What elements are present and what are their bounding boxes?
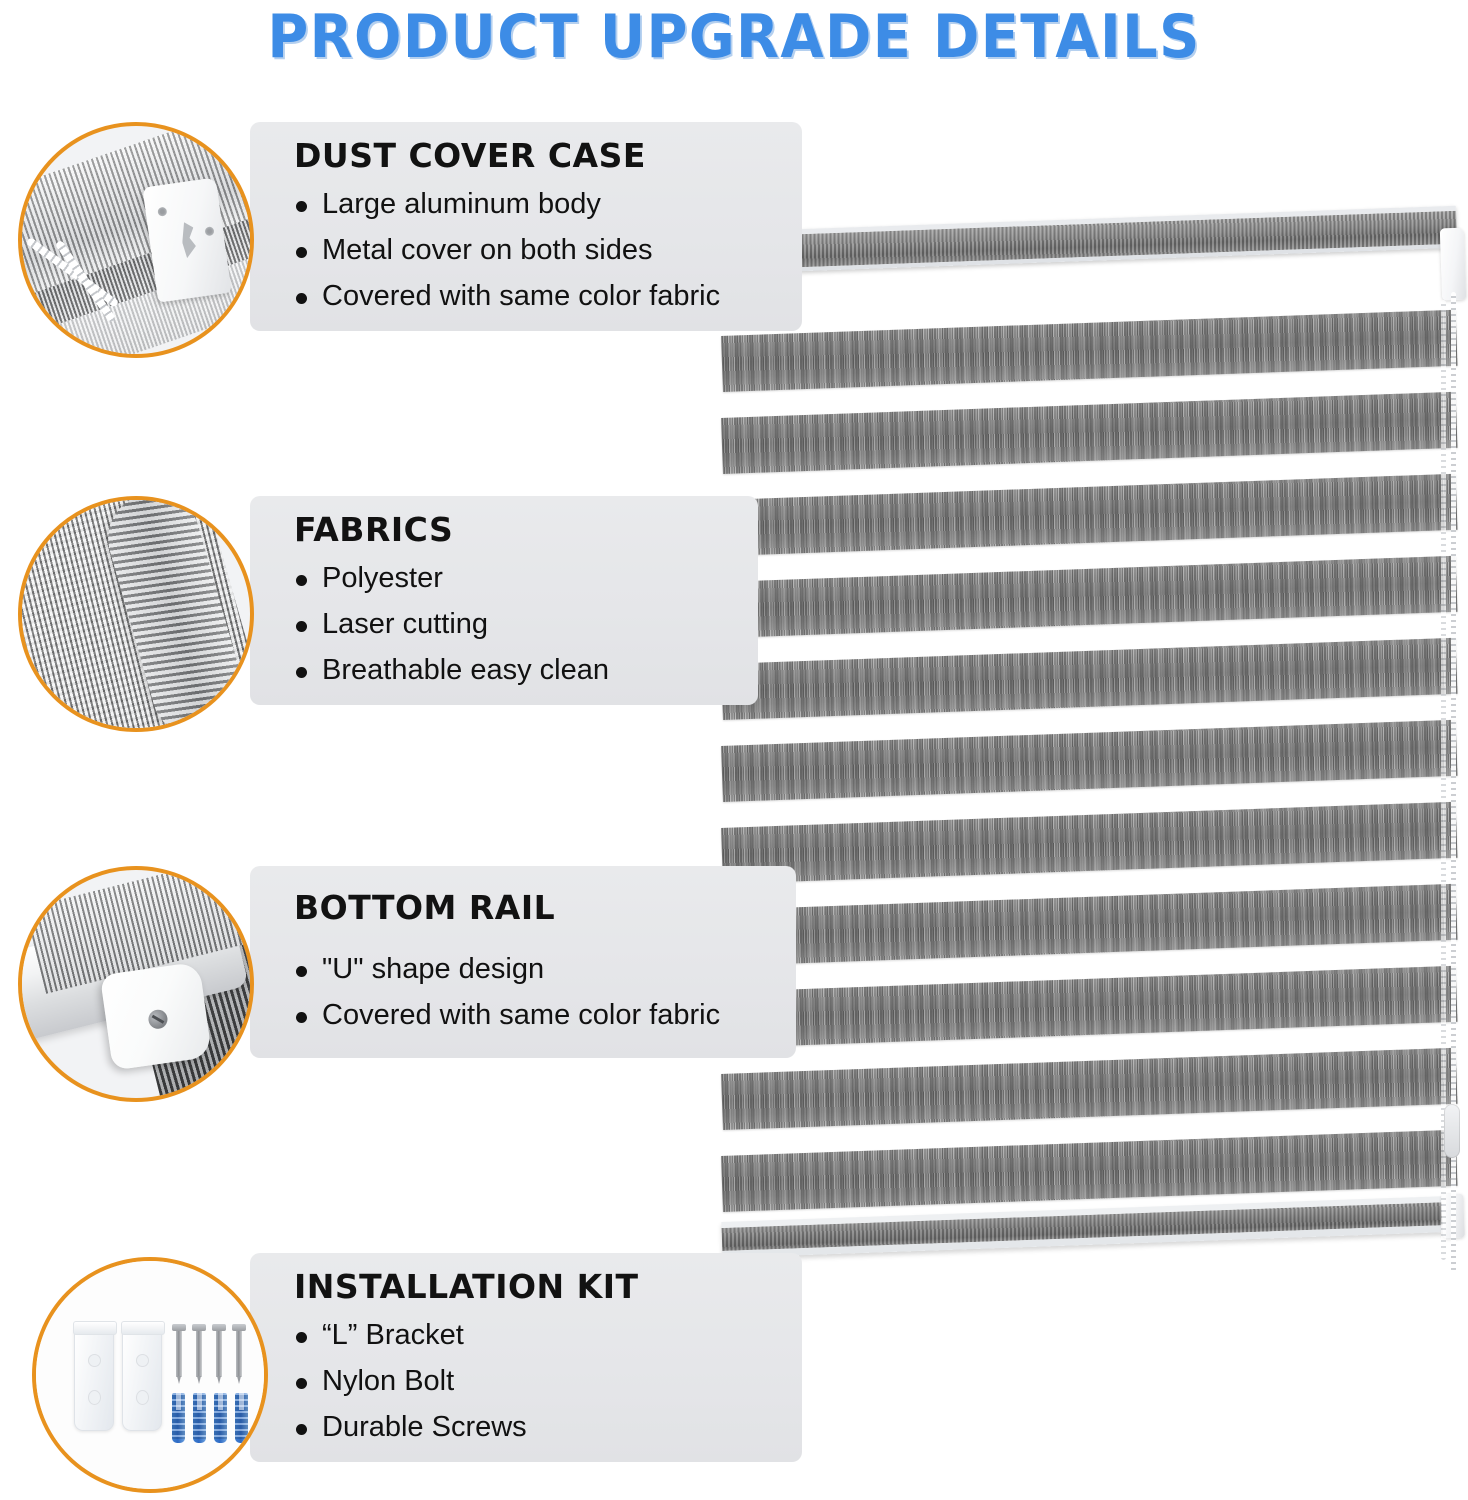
- headrail-end-cap-icon: [1440, 228, 1466, 301]
- blind-stripe: [721, 310, 1458, 392]
- blind-stripe: [721, 1048, 1458, 1130]
- feature-card: INSTALLATION KIT “L” Bracket Nylon Bolt …: [250, 1253, 802, 1462]
- installation-kit-photo: [32, 1257, 268, 1493]
- feature-title: FABRICS: [294, 510, 732, 549]
- blind-stripe: [721, 966, 1458, 1048]
- feature-card: FABRICS Polyester Laser cutting Breathab…: [250, 496, 758, 705]
- blind-stripe: [721, 720, 1458, 802]
- list-item: Breathable easy clean: [294, 654, 732, 687]
- list-item: Laser cutting: [294, 608, 732, 641]
- fabric-swatch-photo: [18, 496, 254, 732]
- chain-tensioner: [1444, 1104, 1460, 1158]
- blind-headrail: [721, 206, 1457, 274]
- list-item: Covered with same color fabric: [294, 280, 776, 313]
- dust-cover-case-photo: [18, 122, 254, 358]
- list-item: Durable Screws: [294, 1411, 776, 1444]
- feature-bullet-list: “L” Bracket Nylon Bolt Durable Screws: [294, 1319, 776, 1444]
- blind-stripe: [721, 884, 1458, 966]
- blind-stripe: [721, 474, 1458, 556]
- feature-bullet-list: "U" shape design Covered with same color…: [294, 953, 770, 1032]
- feature-card: BOTTOM RAIL "U" shape design Covered wit…: [250, 866, 796, 1058]
- list-item: Polyester: [294, 562, 732, 595]
- feature-bullet-list: Polyester Laser cutting Breathable easy …: [294, 562, 732, 687]
- list-item: Large aluminum body: [294, 188, 776, 221]
- blind-stripe: [721, 802, 1458, 884]
- feature-bullet-list: Large aluminum body Metal cover on both …: [294, 188, 776, 313]
- feature-title: DUST COVER CASE: [294, 136, 776, 175]
- list-item: Covered with same color fabric: [294, 999, 770, 1032]
- feature-title: BOTTOM RAIL: [294, 888, 770, 927]
- blind-assembly: [700, 196, 1468, 1296]
- list-item: "U" shape design: [294, 953, 770, 986]
- feature-title: INSTALLATION KIT: [294, 1267, 776, 1306]
- list-item: “L” Bracket: [294, 1319, 776, 1352]
- zebra-roller-blind-photo: [700, 196, 1468, 1296]
- bottom-rail-photo: [18, 866, 254, 1102]
- blind-stripe: [721, 638, 1458, 720]
- page-title: PRODUCT UPGRADE DETAILS: [51, 2, 1416, 72]
- blind-stripe: [721, 392, 1458, 474]
- list-item: Nylon Bolt: [294, 1365, 776, 1398]
- list-item: Metal cover on both sides: [294, 234, 776, 267]
- feature-card: DUST COVER CASE Large aluminum body Meta…: [250, 122, 802, 331]
- blind-stripe: [721, 556, 1458, 638]
